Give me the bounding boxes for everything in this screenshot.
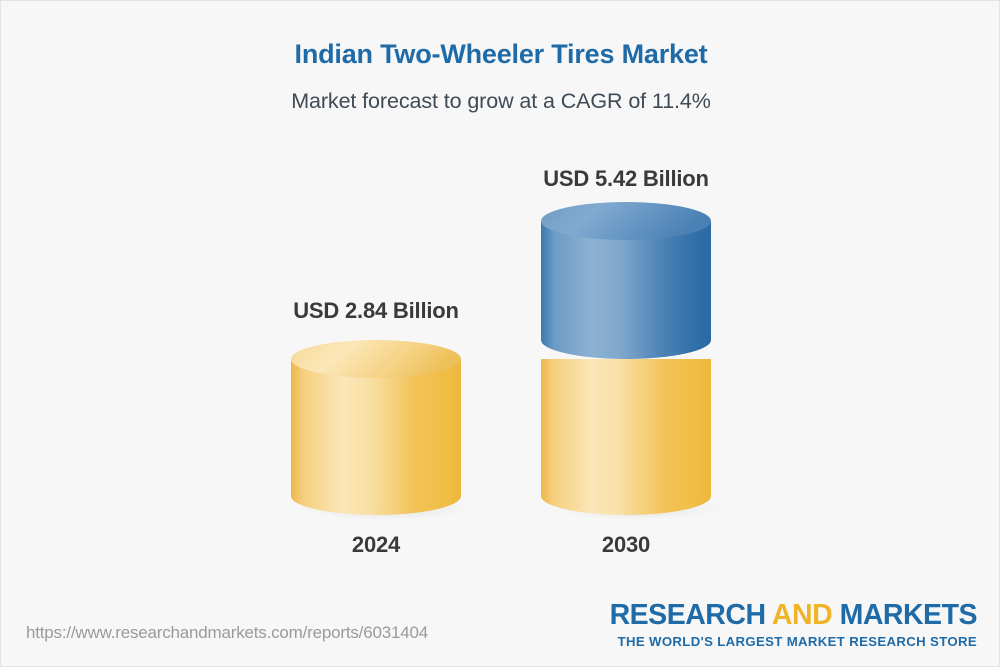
logo-word-markets: MARKETS (832, 599, 977, 631)
logo-word-and: AND (772, 599, 832, 631)
category-label-2030: 2030 (541, 532, 711, 558)
bar-value-label-2024: USD 2.84 Billion (291, 298, 461, 324)
brand-logo: RESEARCH AND MARKETS THE WORLD'S LARGEST… (610, 601, 977, 648)
cylinder-segment-base-2030 (541, 359, 711, 515)
plot-area: USD 2.84 Billion (1, 1, 1000, 667)
logo-word-research: RESEARCH (610, 599, 772, 631)
source-url[interactable]: https://www.researchandmarkets.com/repor… (26, 623, 428, 643)
cylinder-2024 (291, 342, 461, 517)
cylinder-body-2024 (291, 359, 461, 515)
cylinder-top-2030 (541, 202, 711, 240)
cylinder-top-2024 (291, 340, 461, 378)
cylinder-2030 (541, 204, 711, 517)
bar-value-label-2030: USD 5.42 Billion (541, 166, 711, 192)
bar-group-2024: USD 2.84 Billion (291, 1, 461, 667)
logo-tagline: THE WORLD'S LARGEST MARKET RESEARCH STOR… (610, 635, 977, 648)
chart-canvas: Indian Two-Wheeler Tires Market Market f… (0, 0, 1000, 667)
logo-wordmark: RESEARCH AND MARKETS (610, 601, 977, 630)
category-label-2024: 2024 (291, 532, 461, 558)
cylinder-segment-growth-2030 (541, 221, 711, 359)
bar-group-2030: USD 5.42 Billion (541, 1, 711, 667)
